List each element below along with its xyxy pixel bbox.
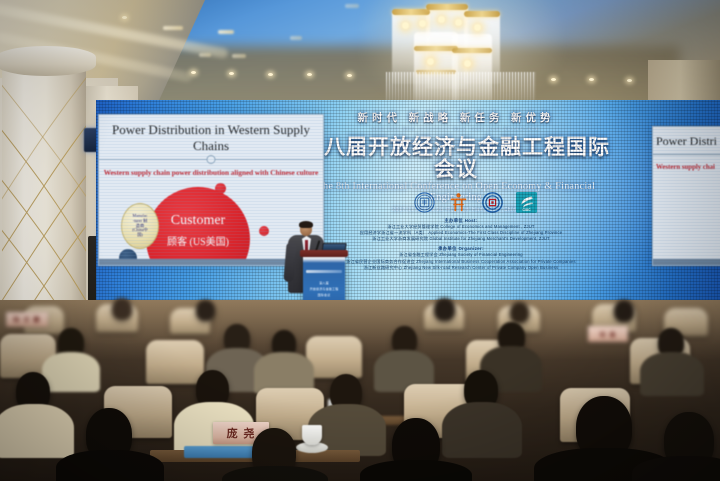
- downlight: [122, 16, 127, 19]
- ceiling-light-tube: [163, 26, 183, 30]
- ceiling-light-tube: [218, 30, 234, 34]
- slide-right-diagram: [653, 175, 720, 261]
- ceiling-light-tube: [199, 53, 211, 57]
- slide-subtitle: Western supply chain power distribution …: [99, 160, 323, 181]
- audience-shoulders: [442, 402, 522, 458]
- podium-text-line1: 第八届: [303, 281, 345, 285]
- organizer-logo-row: CIIIC: [414, 192, 537, 213]
- banner-tagline-cn: 新时代 新战略 新任务 新优势: [296, 110, 616, 125]
- audience-shoulders: [640, 352, 704, 396]
- column-capital: [0, 46, 96, 76]
- satellite-dot-red: [259, 226, 269, 236]
- slide-title: Power Distribution in Western Supply Cha…: [99, 115, 323, 159]
- downlight: [191, 71, 196, 74]
- audience-head: [614, 300, 634, 322]
- customer-label-en: Customer: [146, 213, 250, 229]
- slide-right-footer-bar: [653, 259, 720, 265]
- audience-shoulders: [42, 352, 100, 392]
- audience-head: [112, 298, 132, 320]
- audience-area: 陆 文 鹏 许 建 何 高: [0, 300, 720, 481]
- podium-accent-band: [306, 270, 342, 273]
- presentation-slide-right: Power Distri Western supply chai: [652, 126, 720, 266]
- chandelier-gold-ring: [392, 9, 430, 15]
- podium-text-line3: 国际会议: [303, 293, 345, 297]
- audience-head: [196, 300, 215, 321]
- podium-text-line2: 开放经济与金融工程: [303, 287, 345, 291]
- chandelier-lamp: [402, 22, 409, 29]
- crystal-chandelier: [386, 2, 536, 106]
- chandelier-lamp: [464, 60, 471, 67]
- name-placard: 陆 文 鹏: [6, 312, 48, 327]
- customer-circle: Customer 顾客 (US美国): [146, 187, 250, 266]
- downlight: [347, 74, 352, 77]
- ceiling-light-tube: [290, 36, 302, 40]
- chair: [306, 336, 362, 378]
- audience-shoulders: [0, 404, 74, 458]
- teacup: [302, 425, 322, 445]
- ceiling-light-tube: [345, 4, 359, 8]
- chandelier-gold-ring: [452, 48, 492, 53]
- zjut-seal-logo: [414, 192, 435, 213]
- audience-head: [434, 298, 455, 321]
- speaker-hair: [299, 221, 313, 228]
- chandelier-lamp: [419, 20, 426, 27]
- chair: [146, 340, 204, 384]
- downlight: [627, 79, 632, 82]
- audience-shoulders-foreground: [222, 466, 328, 481]
- blue-spiral-logo: [482, 192, 503, 213]
- downlight: [268, 73, 273, 76]
- downlight: [307, 73, 312, 76]
- banner-tagline-en: NEW ERA NEW STRATEGY NEW TASK NEW ADVANT…: [296, 126, 616, 131]
- chandelier-lamp: [455, 19, 462, 26]
- manufacturer-line: 国): [137, 233, 143, 238]
- conference-title-cn: 第八届开放经济与金融工程国际会议: [296, 136, 616, 180]
- chandelier-gold-ring: [426, 4, 468, 10]
- chandelier-lamp: [474, 24, 481, 31]
- ceiling-light-tube: [232, 54, 246, 58]
- chandelier-lamp: [427, 58, 434, 65]
- downlight: [229, 72, 234, 75]
- slide-right-subtitle: Western supply chai: [653, 155, 720, 175]
- audience-head: [510, 302, 529, 323]
- audience-shoulders-foreground: [56, 450, 164, 481]
- chandelier-gold-ring: [464, 11, 500, 17]
- svg-text:CIIIC: CIIIC: [522, 208, 531, 212]
- name-placard: 何 高: [588, 326, 628, 342]
- downlight: [589, 78, 594, 81]
- podium-wood-top: [300, 250, 348, 257]
- conference-photo: 新时代 新战略 新任务 新优势 NEW ERA NEW STRATEGY NEW…: [0, 0, 720, 481]
- chandelier-lamp: [438, 16, 445, 23]
- audience-shoulders-foreground: [360, 460, 472, 481]
- slide-right-title: Power Distri: [653, 127, 720, 154]
- ciiic-logo: CIIIC: [516, 192, 537, 213]
- orange-figure-logo: [448, 192, 469, 213]
- customer-label-cn: 顾客 (US美国): [146, 233, 250, 248]
- manufacturer-oval: Manufac -turer 制 造商 (China中 国): [121, 203, 159, 249]
